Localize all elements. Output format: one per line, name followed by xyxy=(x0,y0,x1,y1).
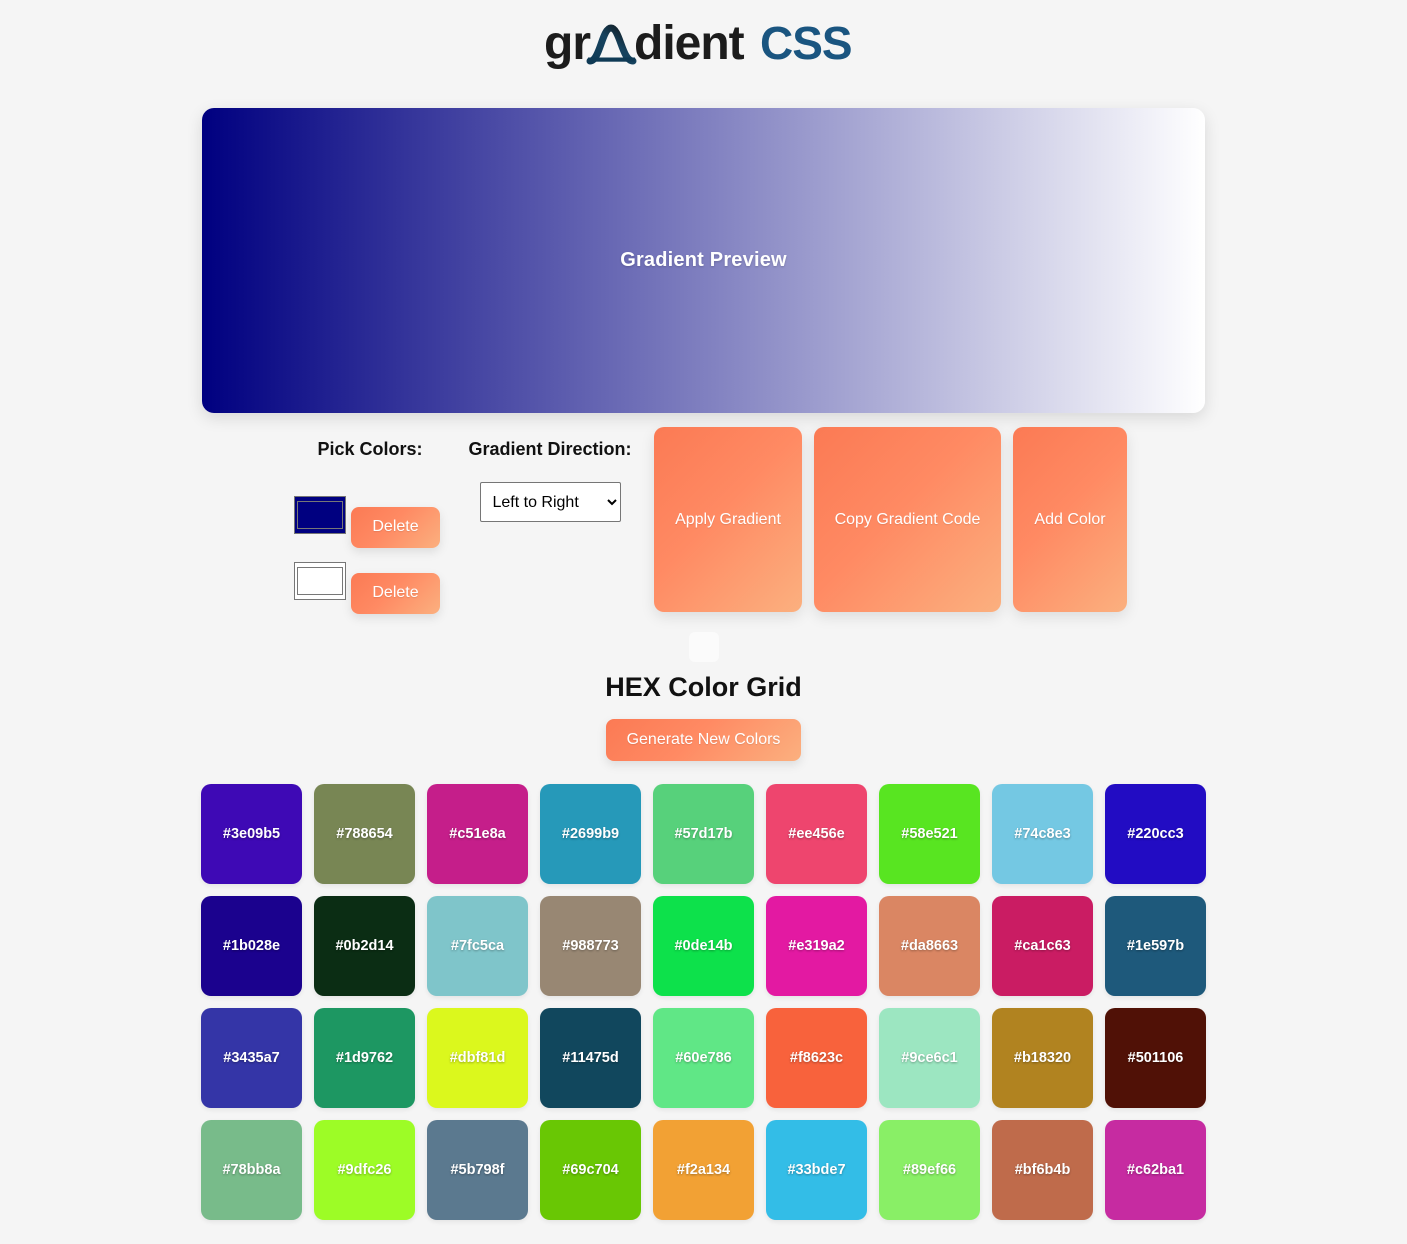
hex-color-cell[interactable]: #bf6b4b xyxy=(992,1120,1093,1220)
gradient-direction-select[interactable]: Left to RightRight to LeftTop to BottomB… xyxy=(480,482,621,522)
hex-color-cell[interactable]: #b18320 xyxy=(992,1008,1093,1108)
generate-new-colors-button[interactable]: Generate New Colors xyxy=(606,719,801,761)
hex-color-cell[interactable]: #1e597b xyxy=(1105,896,1206,996)
gradient-preview-label: Gradient Preview xyxy=(620,249,787,272)
color-stop-list: DeleteDelete xyxy=(280,482,460,614)
apply-gradient-button[interactable]: Apply Gradient xyxy=(654,427,802,612)
gradient-preview-section: Gradient Preview xyxy=(0,108,1407,413)
hex-color-cell[interactable]: #5b798f xyxy=(427,1120,528,1220)
brand-logo: gr dient CSS xyxy=(544,14,864,76)
hex-color-cell[interactable]: #c51e8a xyxy=(427,784,528,884)
pick-colors-group: Pick Colors: DeleteDelete xyxy=(280,427,460,614)
color-stop-row: Delete xyxy=(294,548,460,614)
hex-color-cell[interactable]: #988773 xyxy=(540,896,641,996)
gradient-direction-group: Gradient Direction: Left to RightRight t… xyxy=(460,427,640,522)
hex-color-cell[interactable]: #3435a7 xyxy=(201,1008,302,1108)
hex-color-cell[interactable]: #da8663 xyxy=(879,896,980,996)
hex-color-cell[interactable]: #7fc5ca xyxy=(427,896,528,996)
hex-color-cell[interactable]: #1d9762 xyxy=(314,1008,415,1108)
hex-color-grid-title: HEX Color Grid xyxy=(605,672,802,703)
hex-color-cell[interactable]: #0de14b xyxy=(653,896,754,996)
svg-text:CSS: CSS xyxy=(760,17,852,69)
hex-color-cell[interactable]: #f8623c xyxy=(766,1008,867,1108)
hex-color-cell[interactable]: #788654 xyxy=(314,784,415,884)
hex-color-cell[interactable]: #60e786 xyxy=(653,1008,754,1108)
color-stop-row: Delete xyxy=(294,482,460,548)
action-buttons-group: Apply Gradient Copy Gradient Code Add Co… xyxy=(654,427,1127,612)
hex-color-cell[interactable]: #9ce6c1 xyxy=(879,1008,980,1108)
hex-color-cell[interactable]: #501106 xyxy=(1105,1008,1206,1108)
hex-color-cell[interactable]: #0b2d14 xyxy=(314,896,415,996)
hex-color-cell[interactable]: #c62ba1 xyxy=(1105,1120,1206,1220)
hex-color-cell[interactable]: #3e09b5 xyxy=(201,784,302,884)
delete-color-button-1[interactable]: Delete xyxy=(351,507,440,548)
hex-color-cell[interactable]: #78bb8a xyxy=(201,1120,302,1220)
hex-color-cell[interactable]: #dbf81d xyxy=(427,1008,528,1108)
copy-gradient-code-button[interactable]: Copy Gradient Code xyxy=(814,427,1001,612)
hex-color-cell[interactable]: #ee456e xyxy=(766,784,867,884)
pick-colors-label: Pick Colors: xyxy=(317,439,422,460)
hex-color-cell[interactable]: #2699b9 xyxy=(540,784,641,884)
hex-color-cell[interactable]: #69c704 xyxy=(540,1120,641,1220)
hex-color-cell[interactable]: #1b028e xyxy=(201,896,302,996)
hex-color-cell[interactable]: #f2a134 xyxy=(653,1120,754,1220)
controls-bar: Pick Colors: DeleteDelete Gradient Direc… xyxy=(0,427,1407,614)
hex-color-cell[interactable]: #89ef66 xyxy=(879,1120,980,1220)
hex-color-cell[interactable]: #58e521 xyxy=(879,784,980,884)
svg-text:gr: gr xyxy=(544,17,590,70)
hex-color-grid-section: HEX Color Grid Generate New Colors #3e09… xyxy=(0,672,1407,1220)
code-output-placeholder xyxy=(689,632,719,662)
svg-text:dient: dient xyxy=(634,17,745,70)
hex-color-cell[interactable]: #220cc3 xyxy=(1105,784,1206,884)
gradient-direction-label: Gradient Direction: xyxy=(468,439,631,460)
hex-color-cell[interactable]: #e319a2 xyxy=(766,896,867,996)
color-picker-input-2[interactable] xyxy=(294,562,346,600)
hex-color-cell[interactable]: #11475d xyxy=(540,1008,641,1108)
hex-color-grid: #3e09b5#788654#c51e8a#2699b9#57d17b#ee45… xyxy=(201,784,1206,1220)
hex-color-cell[interactable]: #57d17b xyxy=(653,784,754,884)
site-header: gr dient CSS xyxy=(0,0,1407,86)
add-color-button[interactable]: Add Color xyxy=(1013,427,1127,612)
color-picker-input-1[interactable] xyxy=(294,496,346,534)
hex-color-cell[interactable]: #33bde7 xyxy=(766,1120,867,1220)
gradient-preview-box: Gradient Preview xyxy=(202,108,1205,413)
delete-color-button-2[interactable]: Delete xyxy=(351,573,440,614)
gradient-css-logo-icon: gr dient CSS xyxy=(544,14,864,76)
hex-color-cell[interactable]: #ca1c63 xyxy=(992,896,1093,996)
hex-color-cell[interactable]: #9dfc26 xyxy=(314,1120,415,1220)
hex-color-cell[interactable]: #74c8e3 xyxy=(992,784,1093,884)
